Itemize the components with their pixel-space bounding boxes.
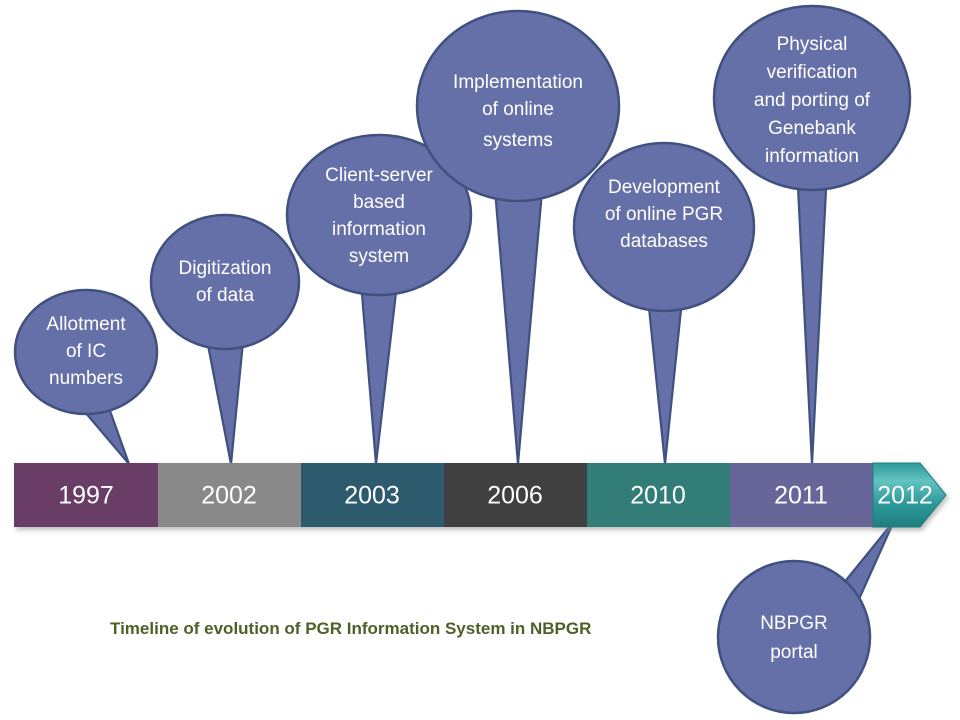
- tail-2002: [207, 340, 243, 464]
- callout-line: information: [332, 219, 426, 240]
- callout-line: Implementation: [453, 72, 583, 93]
- callout-line: system: [349, 246, 409, 267]
- callout-2006[interactable]: Implementation of online systems: [417, 11, 619, 201]
- callout-line: information: [765, 146, 859, 167]
- callout-line: Digitization: [179, 258, 272, 279]
- callout-line: verification: [767, 62, 858, 83]
- callout-line: and porting of: [754, 90, 871, 111]
- callout-1997[interactable]: Allotment of IC numbers: [15, 290, 157, 414]
- callout-line: databases: [620, 231, 708, 252]
- callout-line: Allotment: [46, 314, 126, 335]
- year-label-2010: 2010: [630, 482, 686, 510]
- callout-line: of data: [196, 285, 255, 306]
- diagram-canvas: 1997 2002 2003 2006 2010 2011 2012 Allot…: [0, 0, 960, 720]
- year-label-2006: 2006: [487, 482, 543, 510]
- callout-line: NBPGR: [760, 613, 828, 634]
- figure-caption: Timeline of evolution of PGR Information…: [110, 619, 591, 638]
- callout-line: of online PGR: [605, 204, 723, 225]
- callout-line: based: [353, 192, 405, 213]
- callout-bubble-2010[interactable]: [574, 143, 754, 311]
- callout-line: of online: [482, 99, 554, 120]
- year-label-2012: 2012: [877, 482, 933, 510]
- year-label-1997: 1997: [58, 482, 114, 510]
- year-label-2011: 2011: [774, 482, 828, 510]
- callout-line: numbers: [49, 368, 123, 389]
- callout-bubble-2002[interactable]: [151, 215, 299, 349]
- tail-2011: [797, 168, 827, 464]
- tail-2006: [494, 178, 543, 464]
- callout-line: Development: [608, 177, 721, 198]
- tail-2003: [361, 282, 397, 464]
- callout-line: Client-server: [325, 165, 433, 186]
- callout-bubbles: Allotment of IC numbers Digitization of …: [15, 6, 910, 713]
- callout-line: portal: [770, 642, 818, 663]
- callout-2002[interactable]: Digitization of data: [151, 215, 299, 349]
- callout-2011[interactable]: Physical verification and porting of Gen…: [714, 6, 910, 190]
- callout-2010[interactable]: Development of online PGR databases: [574, 143, 754, 311]
- callout-2012[interactable]: NBPGR portal: [718, 561, 870, 713]
- callout-line: Physical: [777, 34, 848, 55]
- year-label-2002: 2002: [201, 482, 257, 510]
- callout-bubble-2012[interactable]: [718, 561, 870, 713]
- tail-2010: [648, 298, 682, 464]
- timeline-diagram: 1997 2002 2003 2006 2010 2011 2012 Allot…: [0, 0, 960, 720]
- year-label-2003: 2003: [344, 482, 400, 510]
- callout-line: systems: [483, 130, 553, 151]
- callout-line: Genebank: [768, 118, 856, 139]
- callout-line: of IC: [66, 341, 106, 362]
